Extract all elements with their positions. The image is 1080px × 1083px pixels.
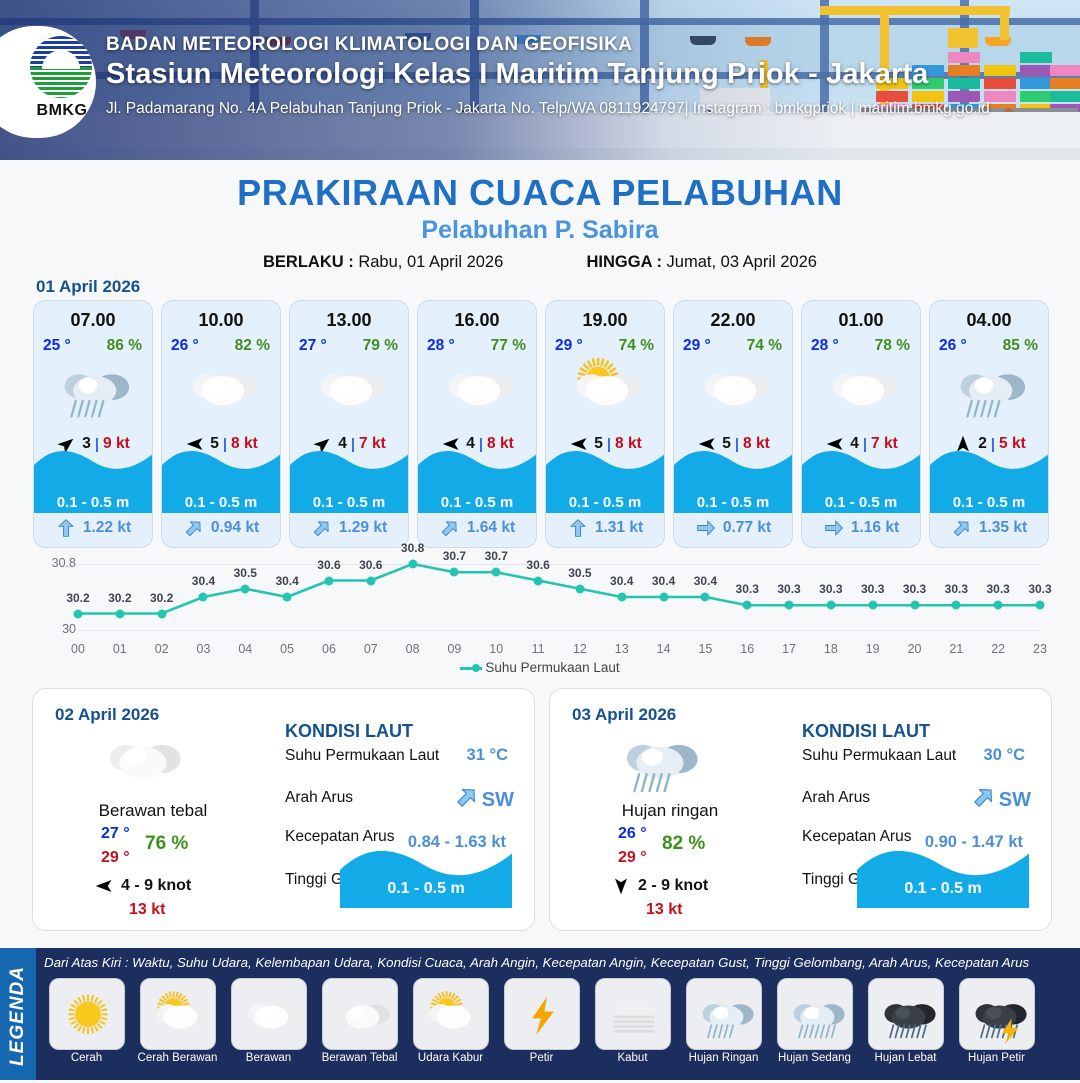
forecast-card-list: 07.0025 °86 %3|9 kt0.1 - 0.5 m1.22 kt10.… [33, 300, 1049, 548]
chart-point [952, 601, 961, 610]
panel-row-label: Suhu Permukaan Laut [285, 747, 439, 765]
current-direction-arrow-icon [951, 518, 973, 538]
card-time: 07.00 [34, 310, 152, 331]
card-current-row: 0.77 kt [674, 515, 792, 541]
card-wave-graphic [34, 443, 153, 493]
panel-row-label: Arah Arus [285, 789, 353, 807]
chart-x-tick: 17 [782, 642, 796, 656]
legend-icon-box [959, 978, 1035, 1050]
chart-point-label: 30.4 [610, 574, 633, 588]
current-direction-arrow-icon [567, 518, 589, 538]
current-direction-arrow-icon [439, 518, 461, 538]
legend-icon-box [322, 978, 398, 1050]
chart-x-tick: 18 [824, 642, 838, 656]
chart-point-label: 30.3 [1028, 582, 1051, 596]
forecast-date-label: 01 April 2026 [36, 277, 140, 297]
chart-gridline [78, 630, 1040, 631]
panel-current-direction: SW [454, 785, 514, 815]
card-current-speed: 1.31 kt [595, 519, 643, 537]
card-temperature: 29 ° [555, 337, 583, 355]
legend-item-label: Cerah Berawan [135, 1052, 220, 1064]
panel-sst-value: 30 °C [984, 746, 1025, 765]
panel-row-label: Suhu Permukaan Laut [802, 747, 956, 765]
card-wave-height: 0.1 - 0.5 m [290, 494, 408, 511]
card-temperature: 28 ° [427, 337, 455, 355]
chart-x-tick: 11 [532, 642, 545, 656]
panel-current-direction: SW [971, 785, 1031, 815]
bmkg-logo-emblem [30, 36, 92, 98]
forecast-card[interactable]: 10.0026 °82 %5|8 kt0.1 - 0.5 m0.94 kt [161, 300, 281, 548]
chart-point-label: 30.4 [192, 574, 215, 588]
card-wave-graphic [418, 443, 537, 493]
card-humidity: 82 % [235, 337, 270, 355]
legend-item-label: Petir [499, 1052, 584, 1064]
card-weather-icon [546, 357, 664, 421]
forecast-card[interactable]: 22.0029 °74 %5|8 kt0.1 - 0.5 m0.77 kt [673, 300, 793, 548]
chart-point-label: 30.6 [526, 558, 549, 572]
card-weather-icon [674, 357, 792, 421]
chart-x-tick: 00 [71, 642, 85, 656]
card-wave-graphic [546, 443, 665, 493]
chart-point-label: 30.4 [652, 574, 675, 588]
chart-x-tick: 10 [489, 642, 503, 656]
legend-item: Berawan [226, 978, 311, 1078]
legend-line-marker [460, 667, 482, 670]
legend-item: Cerah [44, 978, 129, 1078]
legend-item-label: Kabut [590, 1052, 675, 1064]
chart-point [617, 593, 626, 602]
card-current-row: 0.94 kt [162, 515, 280, 541]
chart-point-label: 30.4 [275, 574, 298, 588]
panel-date: 03 April 2026 [572, 705, 676, 725]
chart-point [115, 609, 124, 618]
page-subtitle: Pelabuhan P. Sabira [0, 216, 1080, 245]
forecast-card[interactable]: 13.0027 °79 %4|7 kt0.1 - 0.5 m1.29 kt [289, 300, 409, 548]
legend-item-label: Hujan Ringan [681, 1052, 766, 1064]
chart-point [324, 576, 333, 585]
chart-point-label: 30.7 [443, 549, 466, 563]
forecast-card[interactable]: 07.0025 °86 %3|9 kt0.1 - 0.5 m1.22 kt [33, 300, 153, 548]
card-weather-icon [162, 357, 280, 421]
card-wave-height: 0.1 - 0.5 m [418, 494, 536, 511]
valid-until-label: HINGGA : [586, 253, 661, 271]
card-weather-icon [802, 357, 920, 421]
forecast-card[interactable]: 16.0028 °77 %4|8 kt0.1 - 0.5 m1.64 kt [417, 300, 537, 548]
chart-x-tick: 01 [113, 642, 127, 656]
chart-point-label: 30.3 [819, 582, 842, 596]
card-wave-height: 0.1 - 0.5 m [674, 494, 792, 511]
panel-wind: 2 - 9 knot [638, 877, 708, 895]
panel-humidity: 76 % [145, 833, 188, 855]
legend-item-list: CerahCerah BerawanBerawanBerawan TebalUd… [44, 978, 1074, 1078]
chart-point [157, 609, 166, 618]
card-current-speed: 0.94 kt [211, 519, 259, 537]
chart-y-tick: 30.8 [52, 556, 76, 570]
current-direction-arrow-icon [55, 518, 77, 538]
legend-note: Dari Atas Kiri : Waktu, Suhu Udara, Kele… [44, 955, 1029, 970]
chart-point-label: 30.5 [568, 566, 591, 580]
sst-chart-plot: 30.83030.20030.20130.20230.40330.50430.4… [78, 564, 1040, 630]
card-humidity: 78 % [875, 337, 910, 355]
chart-point [366, 576, 375, 585]
current-direction-arrow-icon [183, 518, 205, 538]
chart-point [408, 560, 417, 569]
card-temperature: 29 ° [683, 337, 711, 355]
chart-x-tick: 09 [447, 642, 461, 656]
chart-point-label: 30.3 [861, 582, 884, 596]
chart-x-tick: 19 [866, 642, 880, 656]
panel-wind-row: 2 - 9 knot [610, 877, 708, 895]
card-current-row: 1.64 kt [418, 515, 536, 541]
card-wave-height: 0.1 - 0.5 m [162, 494, 280, 511]
chart-point-label: 30.2 [108, 591, 131, 605]
card-current-row: 1.35 kt [930, 515, 1048, 541]
chart-point-label: 30.4 [694, 574, 717, 588]
chart-line [78, 564, 1040, 630]
chart-point-label: 30.3 [777, 582, 800, 596]
chart-point [74, 609, 83, 618]
legend-item: Hujan Petir [954, 978, 1039, 1078]
chart-y-tick: 30 [62, 622, 76, 636]
chart-x-tick: 21 [949, 642, 963, 656]
legenda-strip-label: LEGENDA [7, 949, 29, 1083]
legend-icon-box [595, 978, 671, 1050]
chart-x-tick: 06 [322, 642, 336, 656]
valid-from-label: BERLAKU : [263, 253, 354, 271]
chart-point [910, 601, 919, 610]
legend-item: Udara Kabur [408, 978, 493, 1078]
card-wave-height: 0.1 - 0.5 m [930, 494, 1048, 511]
card-weather-icon [34, 357, 152, 421]
panel-row-label: Arah Arus [802, 789, 870, 807]
chart-point [659, 593, 668, 602]
card-wave-height: 0.1 - 0.5 m [802, 494, 920, 511]
panel-weather-icon [93, 727, 189, 793]
legend-item: Kabut [590, 978, 675, 1078]
valid-from-value: Rabu, 01 April 2026 [358, 253, 503, 271]
wind-direction-arrow-icon [610, 877, 632, 895]
card-current-speed: 1.22 kt [83, 519, 131, 537]
current-direction-arrow-icon [823, 518, 845, 538]
legend-item-label: Udara Kabur [408, 1052, 493, 1064]
panel-gust: 13 kt [129, 901, 165, 919]
chart-point [575, 584, 584, 593]
card-time: 19.00 [546, 310, 664, 331]
card-wave-height: 0.1 - 0.5 m [546, 494, 664, 511]
panel-gust: 13 kt [646, 901, 682, 919]
card-current-row: 1.31 kt [546, 515, 664, 541]
panel-wind-row: 4 - 9 knot [93, 877, 191, 895]
card-wave-graphic [162, 443, 281, 493]
card-current-speed: 1.29 kt [339, 519, 387, 537]
legend-icon-box [140, 978, 216, 1050]
chart-point [199, 593, 208, 602]
card-temperature: 26 ° [939, 337, 967, 355]
panel-weather-icon [610, 727, 706, 793]
chart-x-tick: 20 [908, 642, 922, 656]
chart-point [868, 601, 877, 610]
card-humidity: 79 % [363, 337, 398, 355]
legend-icon-box [868, 978, 944, 1050]
logo-land-stripes [30, 67, 92, 98]
panel-temp-min: 26 ° [618, 825, 647, 843]
chart-x-tick: 05 [280, 642, 294, 656]
chart-point [826, 601, 835, 610]
legend-icon-box [231, 978, 307, 1050]
chart-point [1036, 601, 1045, 610]
chart-point-label: 30.3 [945, 582, 968, 596]
card-temperature: 27 ° [299, 337, 327, 355]
forecast-card[interactable]: 19.0029 °74 %5|8 kt0.1 - 0.5 m1.31 kt [545, 300, 665, 548]
agency-name: BADAN METEOROLOGI KLIMATOLOGI DAN GEOFIS… [106, 34, 632, 56]
bmkg-logo-text: BMKG [19, 102, 105, 120]
card-time: 13.00 [290, 310, 408, 331]
wind-direction-arrow-icon [93, 877, 115, 895]
card-time: 04.00 [930, 310, 1048, 331]
card-temperature: 28 ° [811, 337, 839, 355]
chart-point [450, 568, 459, 577]
legend-icon-box [777, 978, 853, 1050]
chart-x-tick: 12 [573, 642, 587, 656]
validity-row: BERLAKU : Rabu, 01 April 2026 HINGGA : J… [0, 253, 1080, 272]
chart-x-tick: 08 [406, 642, 420, 656]
card-current-speed: 0.77 kt [723, 519, 771, 537]
panel-sea-title: KONDISI LAUT [802, 721, 930, 742]
legend-item-label: Hujan Petir [954, 1052, 1039, 1064]
page-title: PRAKIRAAN CUACA PELABUHAN [0, 172, 1080, 214]
panel-condition: Berawan tebal [33, 801, 273, 821]
panel-wave-height: 0.1 - 0.5 m [340, 880, 512, 898]
chart-point-label: 30.2 [150, 591, 173, 605]
card-humidity: 74 % [747, 337, 782, 355]
chart-x-tick: 03 [197, 642, 211, 656]
legend-item-label: Hujan Lebat [863, 1052, 948, 1064]
card-wave-graphic [290, 443, 409, 493]
chart-x-tick: 04 [238, 642, 252, 656]
card-time: 10.00 [162, 310, 280, 331]
panel-wave-height: 0.1 - 0.5 m [857, 880, 1029, 898]
chart-point-label: 30.2 [66, 591, 89, 605]
chart-point [701, 593, 710, 602]
card-weather-icon [290, 357, 408, 421]
card-temperature: 25 ° [43, 337, 71, 355]
current-direction-arrow-icon [971, 785, 997, 815]
panel-wind: 4 - 9 knot [121, 877, 191, 895]
chart-point [241, 584, 250, 593]
legend-item: Berawan Tebal [317, 978, 402, 1078]
station-name: Stasiun Meteorologi Kelas I Maritim Tanj… [106, 58, 928, 91]
legenda-strip: LEGENDA [0, 948, 36, 1080]
legend-icon-box [49, 978, 125, 1050]
legend-footer: LEGENDA Dari Atas Kiri : Waktu, Suhu Uda… [0, 948, 1080, 1080]
card-temperature: 26 ° [171, 337, 199, 355]
panel-date: 02 April 2026 [55, 705, 159, 725]
contact-info: Jl. Padamarang No. 4A Pelabuhan Tanjung … [106, 100, 990, 118]
chart-x-tick: 15 [698, 642, 712, 656]
card-humidity: 74 % [619, 337, 654, 355]
card-time: 16.00 [418, 310, 536, 331]
chart-x-tick: 13 [615, 642, 629, 656]
legend-item-label: Hujan Sedang [772, 1052, 857, 1064]
day-panel: 03 April 2026Hujan ringan26 °29 °82 %2 -… [549, 688, 1052, 931]
card-current-speed: 1.35 kt [979, 519, 1027, 537]
legend-icon-box [504, 978, 580, 1050]
chart-legend: Suhu Permukaan Laut [30, 660, 1050, 675]
chart-point-label: 30.3 [986, 582, 1009, 596]
chart-point-label: 30.3 [903, 582, 926, 596]
legend-label: Suhu Permukaan Laut [485, 660, 619, 675]
valid-until-value: Jumat, 03 April 2026 [667, 253, 817, 271]
card-wave-graphic [674, 443, 793, 493]
legend-icon-box [413, 978, 489, 1050]
day-panel: 02 April 2026Berawan tebal27 °29 °76 %4 … [32, 688, 535, 931]
card-weather-icon [930, 357, 1048, 421]
panel-temp-max: 29 ° [101, 849, 130, 867]
chart-point [785, 601, 794, 610]
card-weather-icon [418, 357, 536, 421]
chart-x-tick: 14 [657, 642, 671, 656]
chart-point [492, 568, 501, 577]
card-wave-graphic [930, 443, 1049, 493]
chart-point-label: 30.8 [401, 541, 424, 555]
chart-point-label: 30.5 [234, 566, 257, 580]
current-direction-arrow-icon [311, 518, 333, 538]
chart-point [743, 601, 752, 610]
card-wave-graphic [802, 443, 921, 493]
forecast-card[interactable]: 01.0028 °78 %4|7 kt0.1 - 0.5 m1.16 kt [801, 300, 921, 548]
chart-point-label: 30.7 [485, 549, 508, 563]
chart-point-label: 30.6 [359, 558, 382, 572]
legend-item: Hujan Sedang [772, 978, 857, 1078]
chart-point-label: 30.6 [317, 558, 340, 572]
chart-x-tick: 16 [740, 642, 754, 656]
card-current-speed: 1.64 kt [467, 519, 515, 537]
chart-point [994, 601, 1003, 610]
panel-condition: Hujan ringan [550, 801, 790, 821]
card-humidity: 86 % [107, 337, 142, 355]
card-current-row: 1.16 kt [802, 515, 920, 541]
panel-current-dir-label: SW [999, 789, 1031, 812]
panel-humidity: 82 % [662, 833, 705, 855]
forecast-card[interactable]: 04.0026 °85 %2|5 kt0.1 - 0.5 m1.35 kt [929, 300, 1049, 548]
chart-point [283, 593, 292, 602]
panel-current-dir-label: SW [482, 789, 514, 812]
chart-x-tick: 02 [155, 642, 169, 656]
legend-item-label: Cerah [44, 1052, 129, 1064]
legend-item: Hujan Ringan [681, 978, 766, 1078]
chart-x-tick: 22 [991, 642, 1005, 656]
sst-chart: 30.83030.20030.20130.20230.40330.50430.4… [30, 556, 1050, 680]
panel-temp-min: 27 ° [101, 825, 130, 843]
legend-item-label: Berawan Tebal [317, 1052, 402, 1064]
chart-x-tick: 23 [1033, 642, 1047, 656]
legend-item: Cerah Berawan [135, 978, 220, 1078]
chart-point-label: 30.3 [736, 582, 759, 596]
card-time: 01.00 [802, 310, 920, 331]
card-current-row: 1.29 kt [290, 515, 408, 541]
chart-x-tick: 07 [364, 642, 378, 656]
chart-point [534, 576, 543, 585]
panel-temp-max: 29 ° [618, 849, 647, 867]
card-humidity: 77 % [491, 337, 526, 355]
panel-sea-title: KONDISI LAUT [285, 721, 413, 742]
current-direction-arrow-icon [695, 518, 717, 538]
card-wave-height: 0.1 - 0.5 m [34, 494, 152, 511]
legend-icon-box [686, 978, 762, 1050]
legend-item: Hujan Lebat [863, 978, 948, 1078]
current-direction-arrow-icon [454, 785, 480, 815]
card-time: 22.00 [674, 310, 792, 331]
legend-item-label: Berawan [226, 1052, 311, 1064]
card-current-speed: 1.16 kt [851, 519, 899, 537]
panel-sst-value: 31 °C [467, 746, 508, 765]
card-current-row: 1.22 kt [34, 515, 152, 541]
legend-item: Petir [499, 978, 584, 1078]
page-header: BMKG BADAN METEOROLOGI KLIMATOLOGI DAN G… [0, 0, 1080, 160]
card-humidity: 85 % [1003, 337, 1038, 355]
